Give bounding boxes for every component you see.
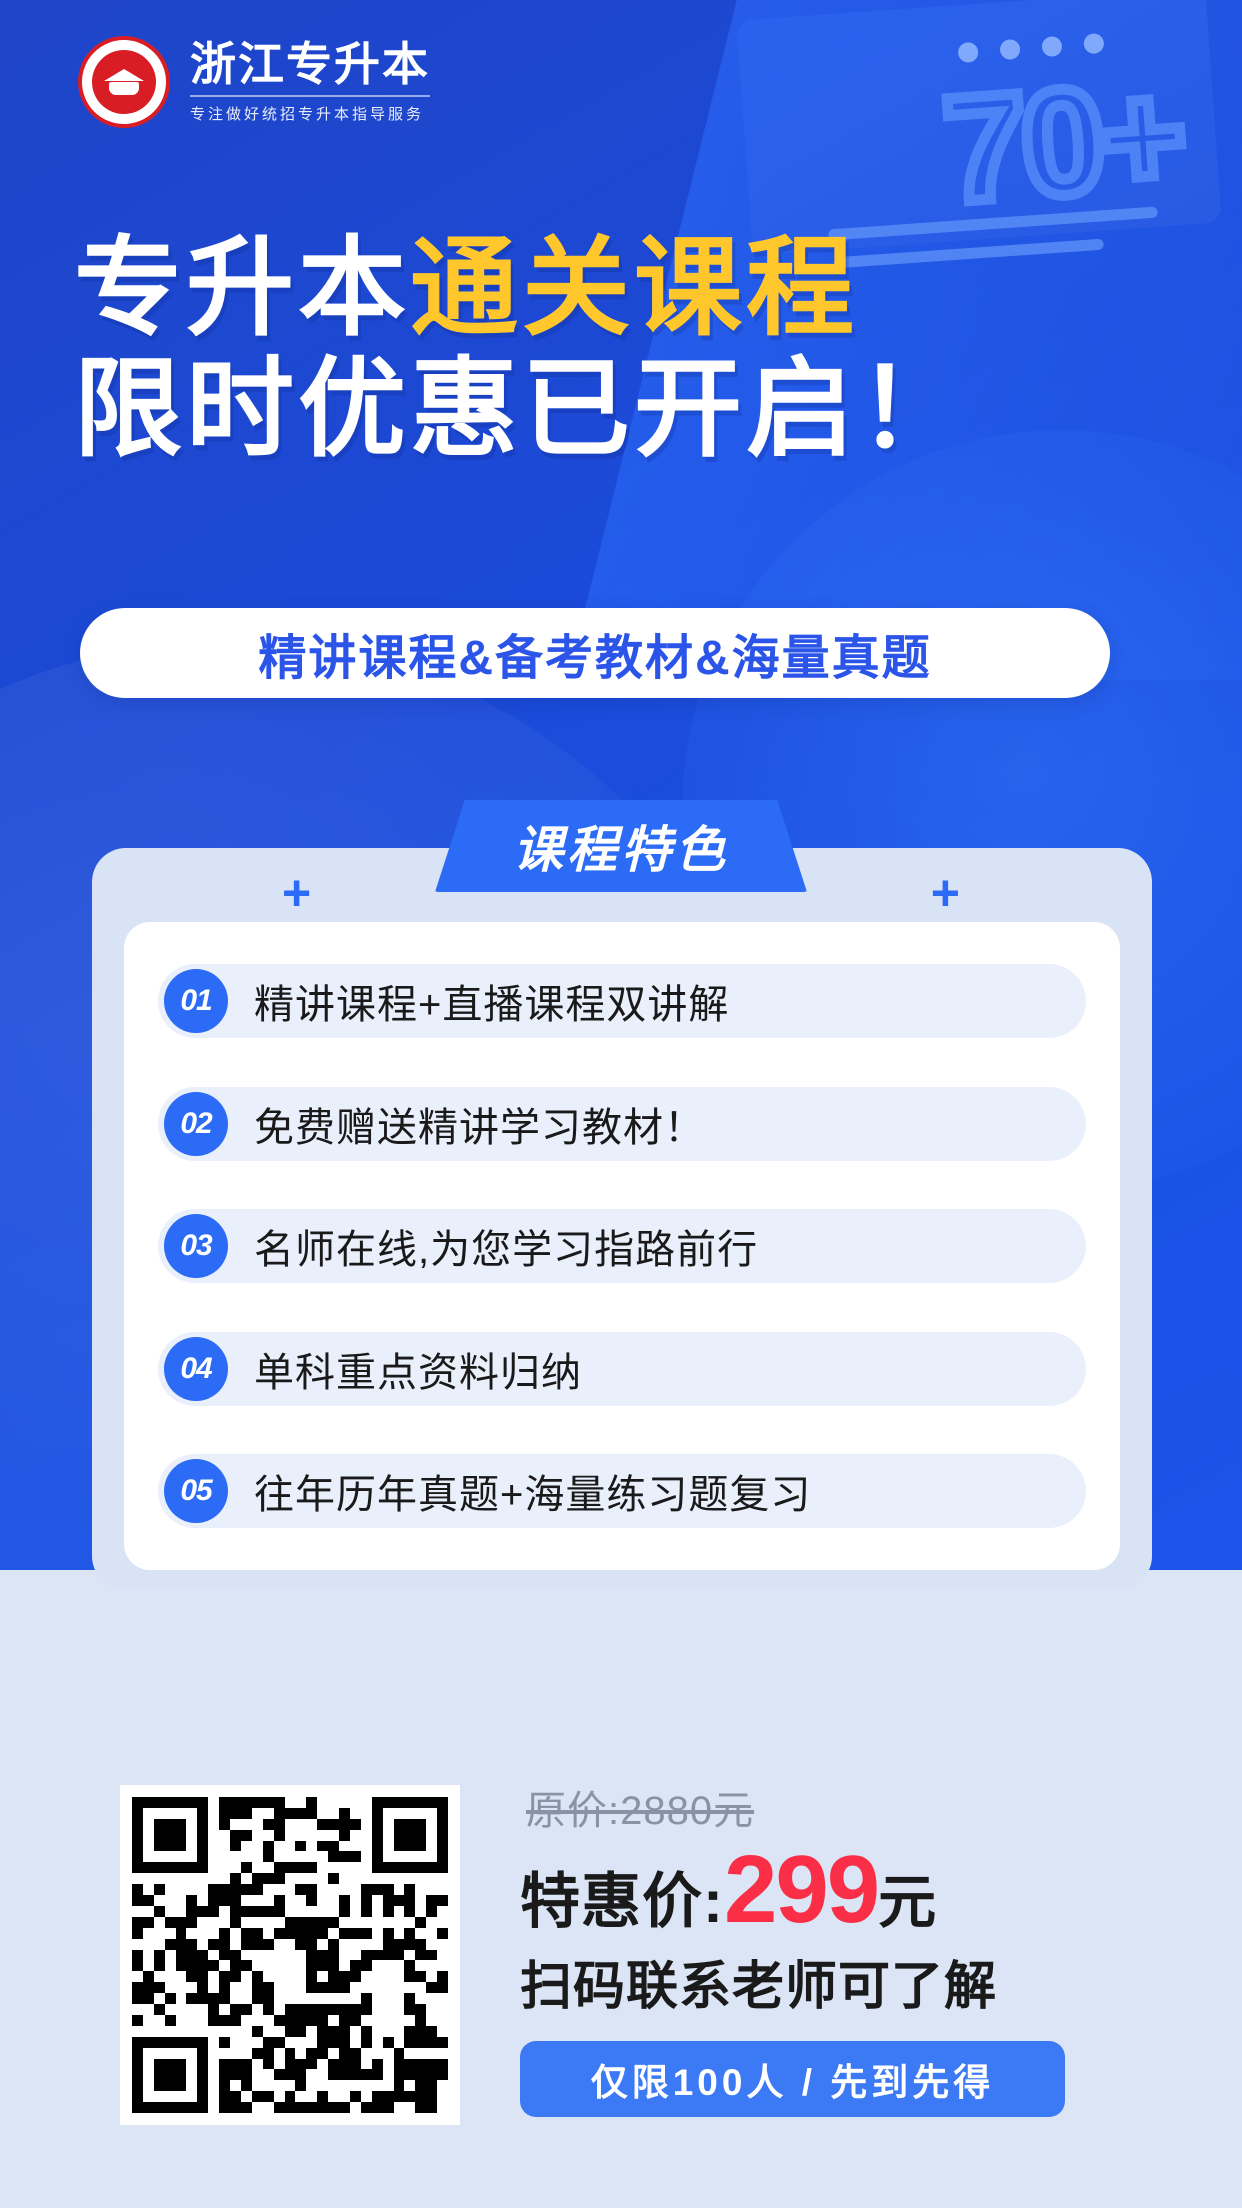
brand-name: 浙江专升本: [190, 40, 430, 88]
feature-label: 名师在线,为您学习指路前行: [254, 1217, 758, 1275]
features-card: 01 精讲课程+直播课程双讲解 02 免费赠送精讲学习教材！ 03 名师在线,为…: [124, 922, 1120, 1570]
feature-label: 往年历年真题+海量练习题复习: [254, 1462, 811, 1520]
hero-section: 70+ 浙江专升本 专注做好统招专升本指导服务 专升本通关课程 限时: [0, 0, 1242, 1690]
features-banner-title: 课程特色: [513, 810, 729, 882]
graduation-cap-icon: [106, 69, 142, 95]
footer-section: 原价:2880元 特惠价: 299 元 扫码联系老师可了解 仅限100人 / 先…: [0, 1690, 1242, 2208]
sale-price-unit: 元: [878, 1855, 936, 1939]
feature-row: 05 往年历年真题+海量练习题复习: [158, 1454, 1086, 1528]
cta-button-label: 仅限100人 / 先到先得: [591, 2052, 995, 2106]
feature-row: 02 免费赠送精讲学习教材！: [158, 1087, 1086, 1161]
feature-number: 05: [164, 1459, 228, 1523]
badge-70plus-decoration: 70+: [724, 4, 1224, 264]
seal-icon: [78, 36, 170, 128]
scan-instruction: 扫码联系老师可了解: [520, 1944, 1140, 2019]
feature-number: 01: [164, 969, 228, 1033]
feature-label: 精讲课程+直播课程双讲解: [254, 972, 729, 1030]
feature-label: 单科重点资料归纳: [254, 1340, 582, 1398]
brand-text: 浙江专升本 专注做好统招专升本指导服务: [190, 40, 430, 124]
seal-inner: [92, 50, 156, 114]
headline-line-2: 限时优惠已开启！: [74, 349, 970, 470]
features-banner: 课程特色: [435, 800, 807, 892]
sale-price-label: 特惠价:: [520, 1853, 724, 1940]
headline-block: 专升本通关课程 限时优惠已开启！: [74, 228, 970, 470]
feature-row: 04 单科重点资料归纳: [158, 1332, 1086, 1406]
brand-tagline: 专注做好统招专升本指导服务: [190, 95, 430, 124]
feature-label: 免费赠送精讲学习教材！: [254, 1095, 705, 1153]
feature-row: 03 名师在线,为您学习指路前行: [158, 1209, 1086, 1283]
subtitle-pill: 精讲课程&备考教材&海量真题: [80, 608, 1110, 698]
headline-part-yellow: 通关课程: [410, 227, 858, 348]
sale-price-row: 特惠价: 299 元: [520, 1842, 1140, 1940]
feature-row: 01 精讲课程+直播课程双讲解: [158, 964, 1086, 1038]
cta-button[interactable]: 仅限100人 / 先到先得: [520, 2041, 1065, 2117]
pricing-block: 原价:2880元 特惠价: 299 元 扫码联系老师可了解 仅限100人 / 先…: [520, 1778, 1140, 2117]
brand-logo: 浙江专升本 专注做好统招专升本指导服务: [78, 36, 430, 128]
qr-code-grid: [132, 1797, 448, 2113]
sale-price-number: 299: [724, 1842, 878, 1938]
plus-icon-left: +: [282, 868, 311, 918]
feature-number: 02: [164, 1092, 228, 1156]
original-price: 原价:2880元: [520, 1778, 1140, 1836]
promo-poster: 70+ 浙江专升本 专注做好统招专升本指导服务 专升本通关课程 限时: [0, 0, 1242, 2208]
feature-number: 03: [164, 1214, 228, 1278]
feature-number: 04: [164, 1337, 228, 1401]
subtitle-text: 精讲课程&备考教材&海量真题: [258, 618, 931, 688]
qr-code[interactable]: [120, 1785, 460, 2125]
headline-line-1: 专升本通关课程: [74, 228, 970, 349]
plus-icon-right: +: [931, 868, 960, 918]
headline-part-white: 专升本: [74, 227, 410, 348]
